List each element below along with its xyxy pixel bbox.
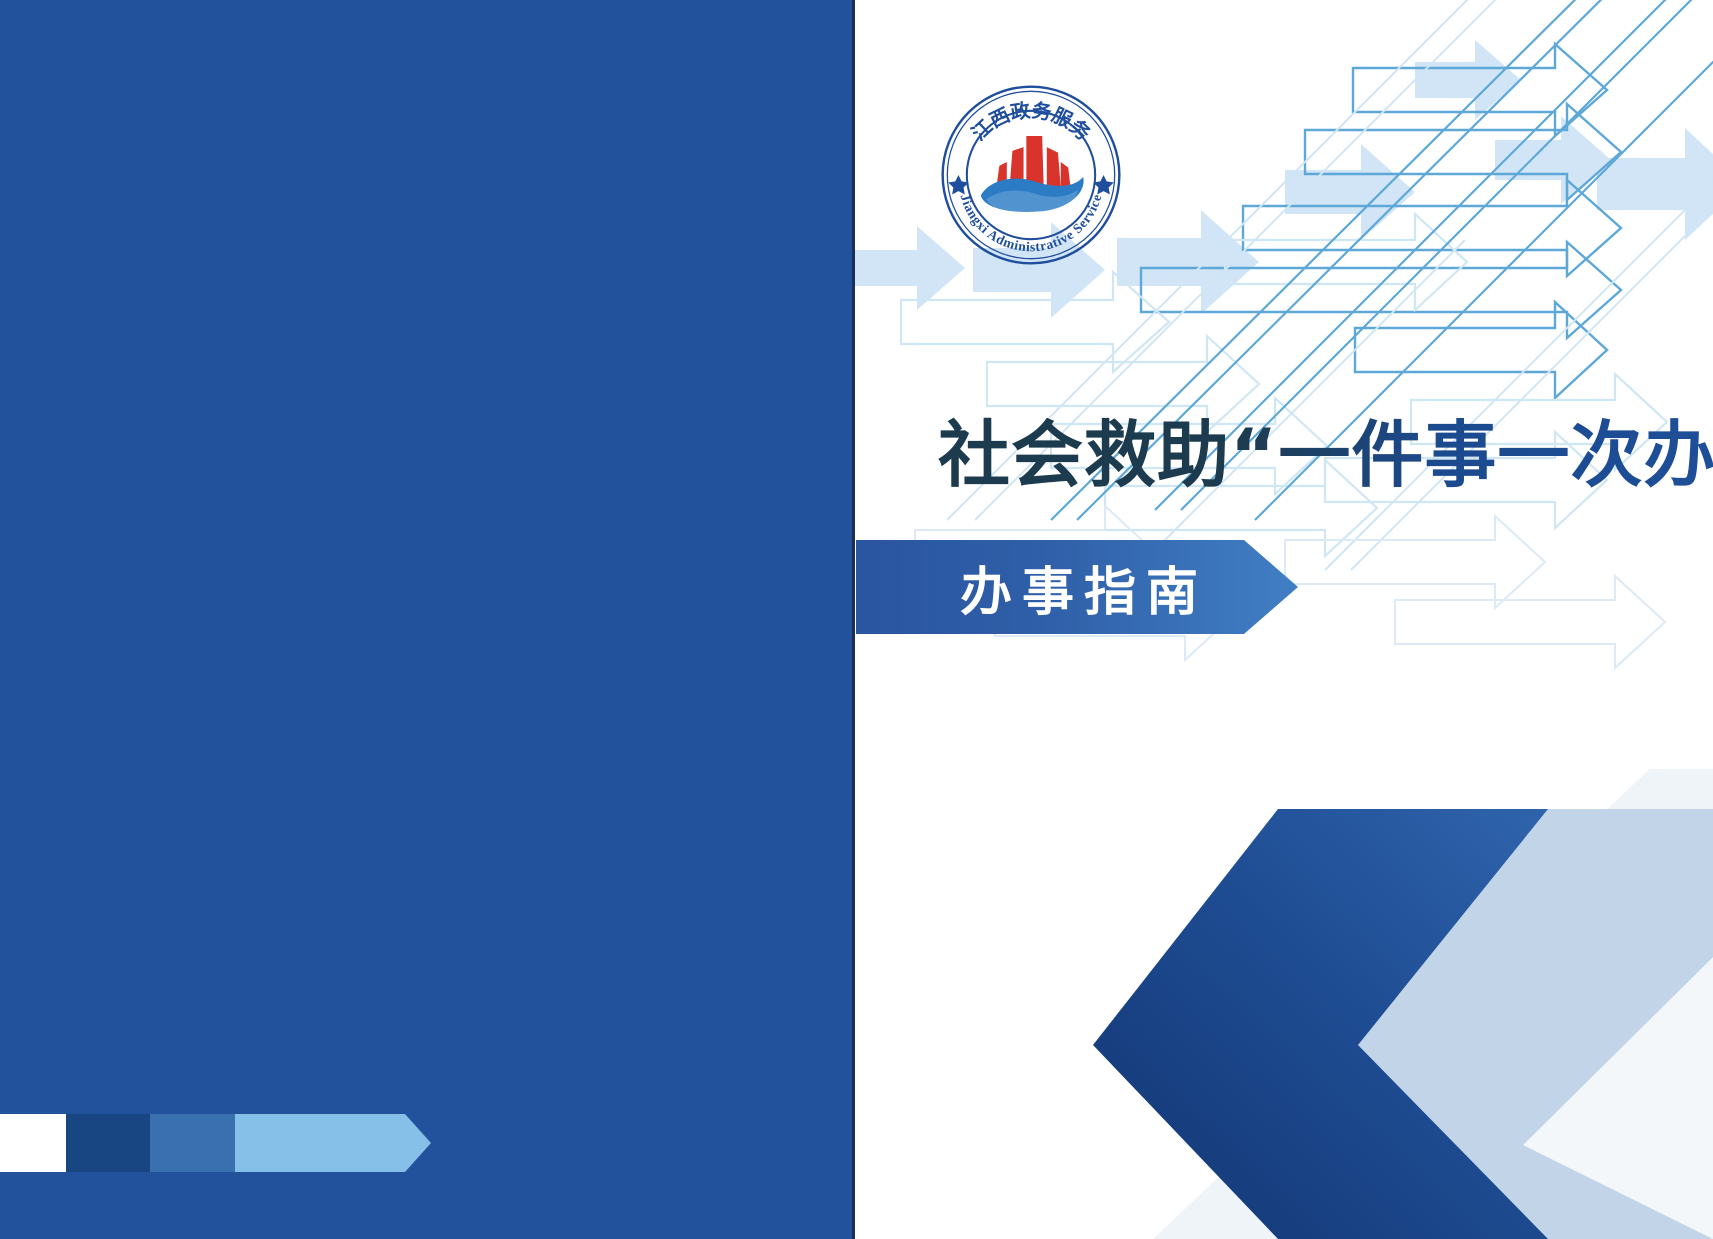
guide-banner: 办事指南 [856,540,1298,634]
left-blue-panel [0,0,855,1239]
emblem-star-left [948,175,968,195]
arrow-chip-light [235,1114,431,1172]
cover-page: 江西政务服务 Jiangxi Administrative Service [0,0,1713,1239]
page-title: 社会救助“一件事一次办” [938,416,1713,495]
bottom-right-chevron-stack [1093,769,1713,1239]
emblem-star-right [1093,175,1113,195]
guide-banner-label: 办事指南 [960,550,1208,625]
jiangxi-administrative-service-emblem: 江西政务服务 Jiangxi Administrative Service [938,82,1124,268]
